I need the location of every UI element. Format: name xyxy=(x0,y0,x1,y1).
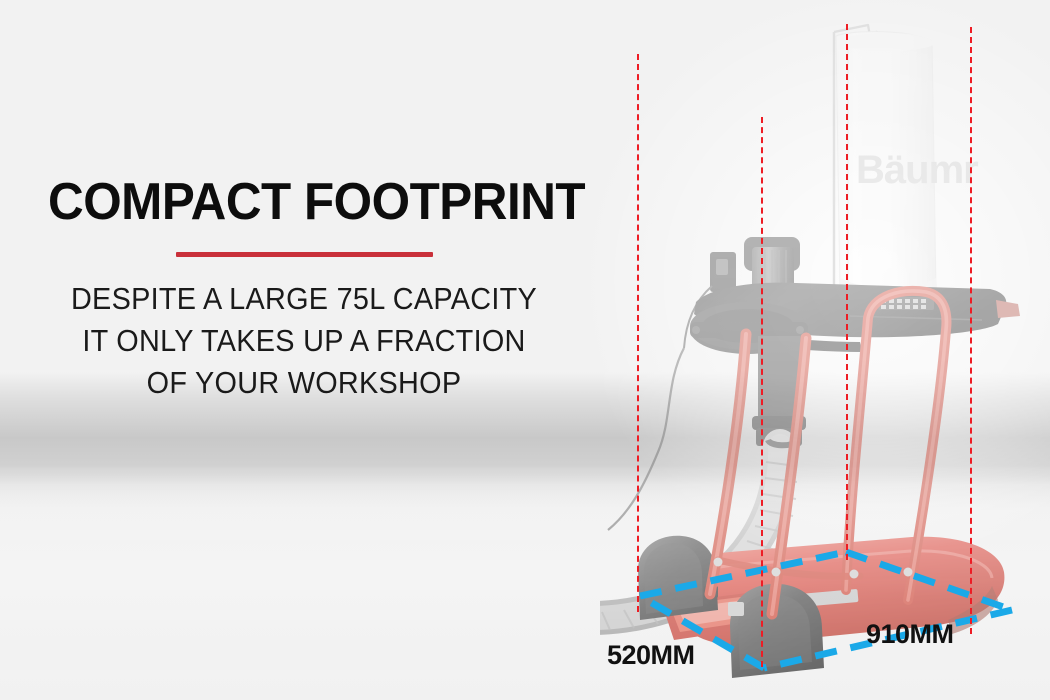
slide-canvas: COMPACT FOOTPRINT DESPITE A LARGE 75L CA… xyxy=(0,0,1050,700)
guide-line-4 xyxy=(970,27,972,634)
subtitle-line-3: OF YOUR WORKSHOP xyxy=(21,362,586,404)
subtitle-block: DESPITE A LARGE 75L CAPACITY IT ONLY TAK… xyxy=(0,278,608,404)
page-title: COMPACT FOOTPRINT xyxy=(48,176,585,228)
wheel-rear-left xyxy=(638,536,718,620)
measurement-label-depth: 520MM xyxy=(607,640,695,671)
guide-line-1 xyxy=(637,54,639,612)
product-illustration: Bäumr xyxy=(600,0,1050,700)
brand-wordmark: Bäumr xyxy=(856,148,978,192)
subtitle-line-1: DESPITE A LARGE 75L CAPACITY xyxy=(21,278,586,320)
guide-line-2 xyxy=(761,117,763,667)
subtitle-line-2: IT ONLY TAKES UP A FRACTION xyxy=(21,320,586,362)
title-underline-divider xyxy=(176,252,433,257)
power-cord xyxy=(608,348,684,530)
measurement-label-width: 910MM xyxy=(866,619,954,650)
guide-line-3 xyxy=(846,24,848,560)
